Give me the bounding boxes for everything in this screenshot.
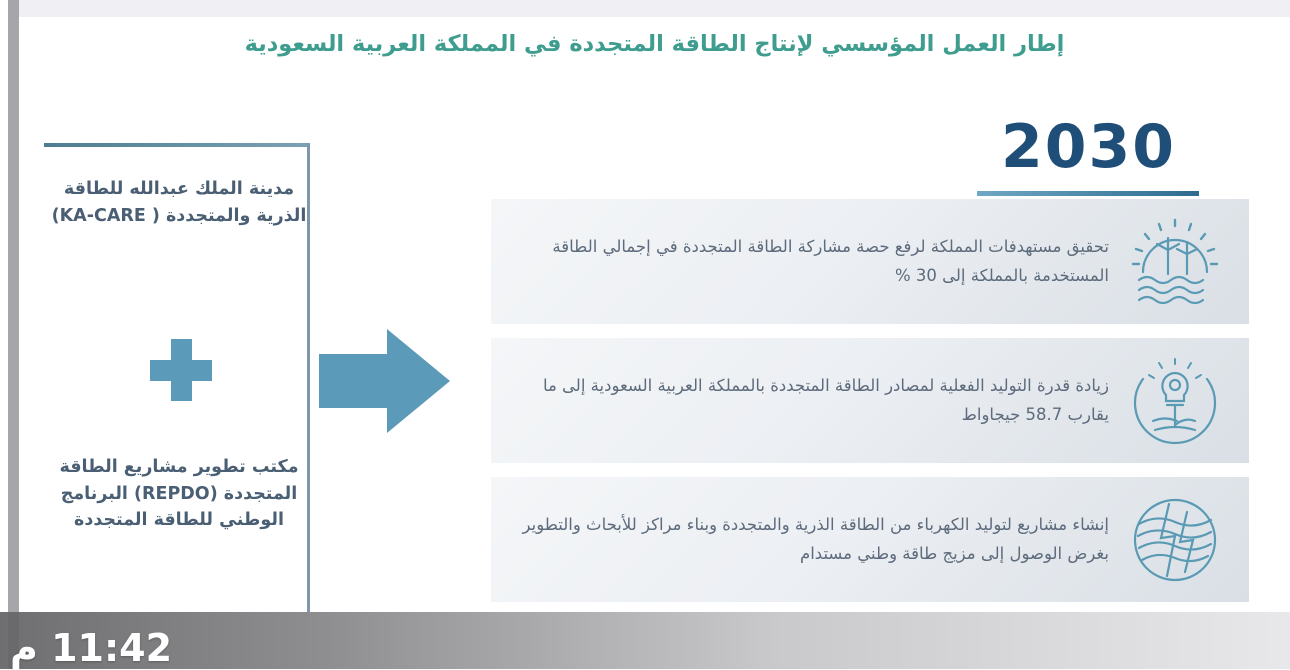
org-kacare-label: مدينة الملك عبدالله للطاقة الذرية والمتج… bbox=[49, 176, 309, 229]
goal-text: زيادة قدرة التوليد الفعلية لمصادر الطاقة… bbox=[501, 372, 1115, 429]
org-repdo-label: مكتب تطوير مشاريع الطاقة المتجددة (REPDO… bbox=[49, 454, 309, 534]
goal-card: إنشاء مشاريع لتوليد الكهرباء من الطاقة ا… bbox=[491, 477, 1249, 602]
year-header: 2030 bbox=[491, 117, 1251, 199]
lightbulb-plant-circle-icon bbox=[1115, 348, 1235, 453]
viewer-left-edge bbox=[0, 0, 8, 669]
goal-text: تحقيق مستهدفات المملكة لرفع حصة مشاركة ا… bbox=[501, 233, 1115, 290]
goal-card: تحقيق مستهدفات المملكة لرفع حصة مشاركة ا… bbox=[491, 199, 1249, 324]
vertical-scrollbar[interactable] bbox=[8, 0, 19, 669]
plus-icon-vertical-bar bbox=[171, 339, 192, 401]
year-2030-label: 2030 bbox=[1001, 117, 1176, 177]
clock-label: 11:42 م bbox=[10, 626, 172, 670]
sun-wind-turbine-water-icon bbox=[1115, 209, 1235, 314]
right-arrow-icon bbox=[319, 321, 454, 441]
status-overlay-bar bbox=[0, 612, 1290, 669]
slide-canvas: إطار العمل المؤسسي لإنتاج الطاقة المتجدد… bbox=[19, 17, 1290, 669]
plus-icon bbox=[150, 339, 212, 401]
goal-card: زيادة قدرة التوليد الفعلية لمصادر الطاقة… bbox=[491, 338, 1249, 463]
viewer-top-strip bbox=[0, 0, 1290, 17]
institutions-panel: مدينة الملك عبدالله للطاقة الذرية والمتج… bbox=[41, 143, 310, 643]
goal-text: إنشاء مشاريع لتوليد الكهرباء من الطاقة ا… bbox=[501, 511, 1115, 568]
year-underline bbox=[977, 191, 1199, 196]
energy-wave-bolt-circle-icon bbox=[1115, 487, 1235, 592]
page-title: إطار العمل المؤسسي لإنتاج الطاقة المتجدد… bbox=[19, 31, 1290, 57]
document-viewer: إطار العمل المؤسسي لإنتاج الطاقة المتجدد… bbox=[0, 0, 1290, 669]
goals-column: 2030 bbox=[491, 117, 1251, 616]
